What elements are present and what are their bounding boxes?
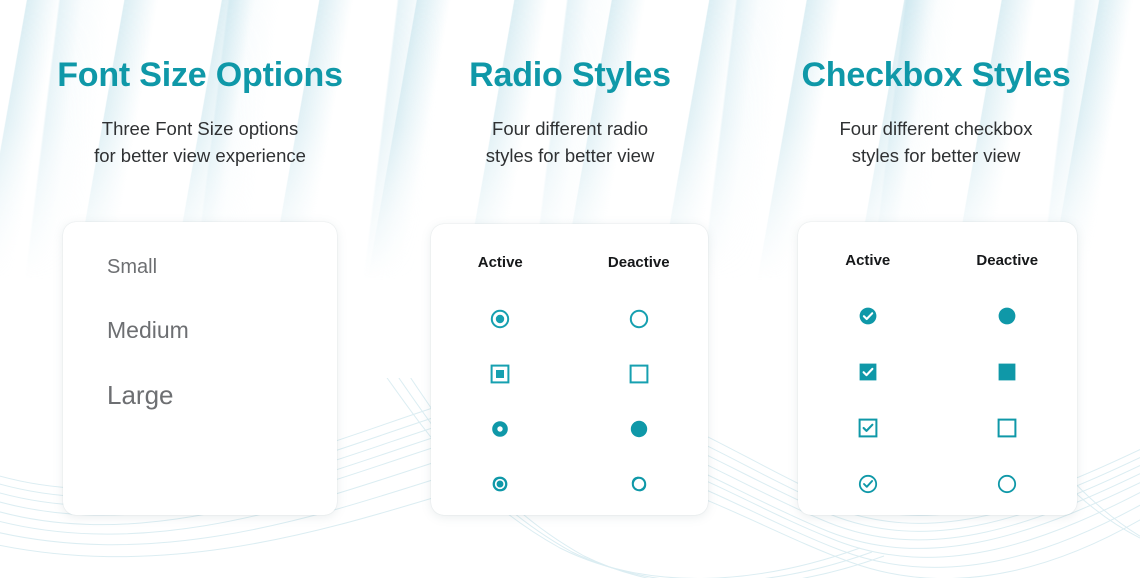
- checkbox-row-3: [798, 400, 1077, 456]
- radio-ring-empty-icon[interactable]: [628, 308, 650, 330]
- checkbox-row-2-deactive-cell[interactable]: [938, 344, 1078, 400]
- radio-row-3-deactive-cell[interactable]: [570, 401, 709, 456]
- checkbox-row-1: [798, 288, 1077, 344]
- radio-row-1: [431, 291, 708, 346]
- check-circle-outline-icon[interactable]: [857, 473, 879, 495]
- radio-row-2-active-cell[interactable]: [431, 346, 570, 401]
- subtitle-font-size: Three Font Size options for better view …: [10, 116, 390, 170]
- slide-stage: Font Size Options Three Font Size option…: [0, 0, 1140, 578]
- circle-filled-icon[interactable]: [996, 305, 1018, 327]
- subtitle-radio-styles: Four different radio styles for better v…: [380, 116, 760, 170]
- check-square-filled-icon[interactable]: [857, 361, 879, 383]
- column-font-size-options: Font Size Options Three Font Size option…: [10, 58, 390, 169]
- checkbox-row-2: [798, 344, 1077, 400]
- radio-row-2-deactive-cell[interactable]: [570, 346, 709, 401]
- checkbox-row-1-deactive-cell[interactable]: [938, 288, 1078, 344]
- subtitle-line-2: for better view experience: [94, 145, 306, 166]
- square-filled-icon[interactable]: [996, 361, 1018, 383]
- radio-grid-header-row: Active Deactive: [431, 254, 708, 271]
- subtitle-line-1: Three Font Size options: [102, 118, 298, 139]
- checkbox-row-3-deactive-cell[interactable]: [938, 400, 1078, 456]
- checkbox-grid: Active Deactive: [798, 222, 1077, 512]
- radio-row-3-active-cell[interactable]: [431, 401, 570, 456]
- radio-row-1-active-cell[interactable]: [431, 291, 570, 346]
- radio-grid: Active Deactive: [431, 224, 708, 511]
- page-title-checkbox-styles: Checkbox Styles: [746, 58, 1126, 94]
- column-radio-styles: Radio Styles Four different radio styles…: [380, 58, 760, 169]
- radio-row-2: [431, 346, 708, 401]
- font-size-option-large[interactable]: Large: [107, 380, 337, 411]
- radio-header-deactive-cell: Deactive: [570, 254, 709, 271]
- square-outline-icon[interactable]: [996, 417, 1018, 439]
- radio-leaf-outline-icon[interactable]: [627, 472, 651, 496]
- checkbox-header-deactive: Deactive: [976, 252, 1038, 269]
- checkbox-row-2-active-cell[interactable]: [798, 344, 938, 400]
- checkbox-header-active-cell: Active: [798, 252, 938, 269]
- subtitle-line-2: styles for better view: [486, 145, 655, 166]
- circle-outline-icon[interactable]: [996, 473, 1018, 495]
- radio-row-4-active-cell[interactable]: [431, 456, 570, 511]
- radio-header-active: Active: [478, 254, 523, 271]
- subtitle-checkbox-styles: Four different checkbox styles for bette…: [746, 116, 1126, 170]
- check-square-outline-icon[interactable]: [857, 417, 879, 439]
- radio-row-3: [431, 401, 708, 456]
- font-size-list: Small Medium Large: [63, 222, 337, 411]
- font-size-option-medium[interactable]: Medium: [107, 317, 337, 344]
- checkbox-grid-header-row: Active Deactive: [798, 252, 1077, 269]
- radio-ring-dot-icon[interactable]: [489, 308, 511, 330]
- checkbox-header-active: Active: [845, 252, 890, 269]
- checkbox-row-1-active-cell[interactable]: [798, 288, 938, 344]
- radio-leaf-filled-icon[interactable]: [488, 472, 512, 496]
- column-checkbox-styles: Checkbox Styles Four different checkbox …: [746, 58, 1126, 169]
- check-circle-filled-icon[interactable]: [857, 305, 879, 327]
- card-checkbox-styles: Active Deactive: [798, 222, 1077, 515]
- radio-header-active-cell: Active: [431, 254, 570, 271]
- radio-row-4-deactive-cell[interactable]: [570, 456, 709, 511]
- checkbox-row-4-deactive-cell[interactable]: [938, 456, 1078, 512]
- checkbox-header-deactive-cell: Deactive: [938, 252, 1078, 269]
- checkbox-row-4-active-cell[interactable]: [798, 456, 938, 512]
- radio-square-filled-icon[interactable]: [489, 363, 511, 385]
- radio-header-deactive: Deactive: [608, 254, 670, 271]
- radio-row-4: [431, 456, 708, 511]
- card-radio-styles: Active Deactive: [431, 224, 708, 515]
- page-title-font-size: Font Size Options: [10, 58, 390, 94]
- subtitle-line-1: Four different radio: [492, 118, 648, 139]
- subtitle-line-2: styles for better view: [852, 145, 1021, 166]
- radio-disc-filled-icon[interactable]: [628, 418, 650, 440]
- radio-donut-icon[interactable]: [489, 418, 511, 440]
- page-title-radio-styles: Radio Styles: [380, 58, 760, 94]
- checkbox-row-4: [798, 456, 1077, 512]
- checkbox-row-3-active-cell[interactable]: [798, 400, 938, 456]
- radio-row-1-deactive-cell[interactable]: [570, 291, 709, 346]
- radio-square-empty-icon[interactable]: [628, 363, 650, 385]
- subtitle-line-1: Four different checkbox: [840, 118, 1033, 139]
- font-size-option-small[interactable]: Small: [107, 256, 337, 279]
- card-font-size: Small Medium Large: [63, 222, 337, 515]
